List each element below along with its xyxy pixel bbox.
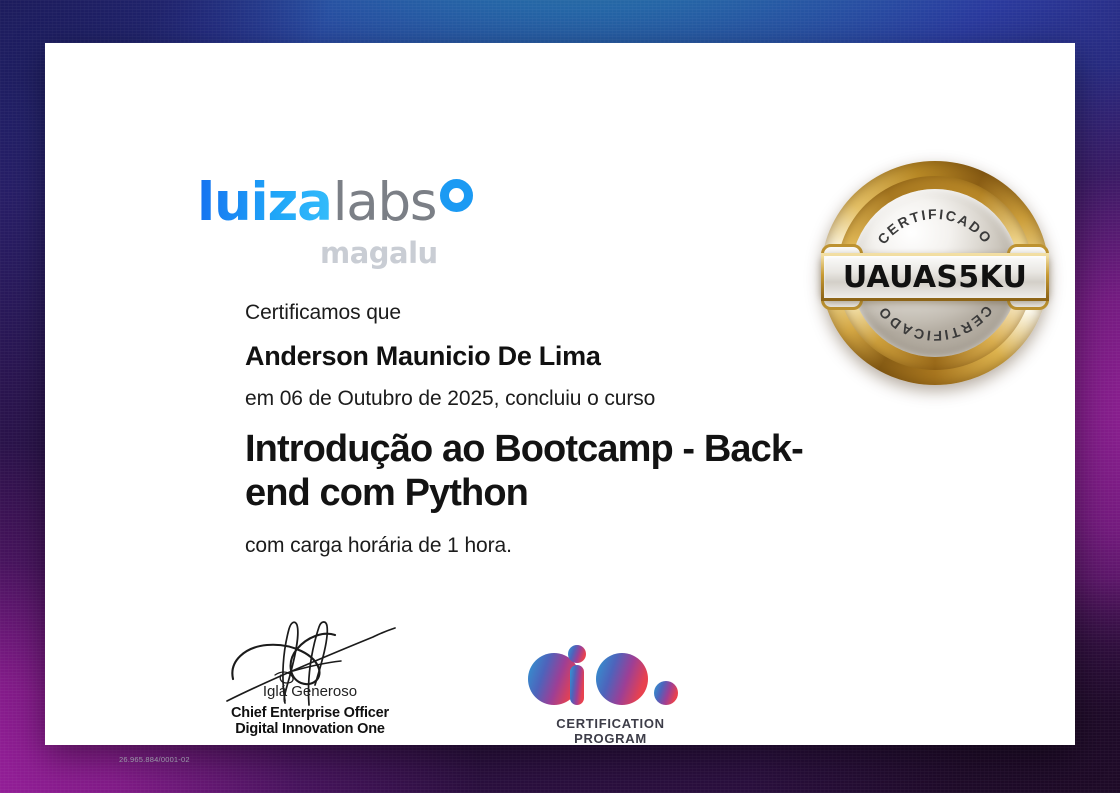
intro-text: Certificamos que (245, 301, 845, 325)
signer-organization: Digital Innovation One (205, 721, 415, 737)
course-workload: com carga horária de 1 hora. (245, 534, 845, 558)
certificate-body: Certificamos que Anderson Maunicio De Li… (245, 301, 845, 558)
certificate-code: UAUAS5KU (821, 253, 1049, 301)
logo-luiza-text: luiza (197, 172, 332, 233)
certificate-card: luizalabs magalu CERTIFICADO CERTIFICADO (45, 43, 1075, 745)
logo-wordmark: luizalabs (197, 176, 436, 229)
magalu-sub-logo-text: magalu (320, 236, 438, 270)
dio-logo-icon (518, 643, 703, 705)
seal-arc-top-label: CERTIFICADO (874, 206, 996, 247)
cnpj-number: 26.965.884/0001-02 (119, 755, 190, 764)
certificate-seal-badge: CERTIFICADO CERTIFICADO UAUAS5KU (815, 161, 1055, 385)
seal-arc-top-textpath: CERTIFICADO (874, 206, 996, 247)
signer-role: Chief Enterprise Officer (205, 705, 415, 721)
course-title: Introdução ao Bootcamp - Back-end com Py… (245, 427, 835, 515)
completion-date: em 06 de Outubro de 2025, concluiu o cur… (245, 387, 845, 411)
dio-caption: CERTIFICATION PROGRAM (518, 716, 703, 746)
seal-code-plaque: UAUAS5KU (821, 244, 1049, 310)
certificate-page: luizalabs magalu CERTIFICADO CERTIFICADO (0, 0, 1120, 793)
signer-name: Iglá Generoso (205, 683, 415, 700)
dio-certification-logo: CERTIFICATION PROGRAM (518, 643, 703, 738)
luizalabs-logo: luizalabs magalu (197, 176, 487, 276)
recipient-name: Anderson Maunicio De Lima (245, 341, 845, 372)
logo-labs-text: labs (333, 172, 437, 233)
logo-circle-icon (440, 179, 473, 212)
